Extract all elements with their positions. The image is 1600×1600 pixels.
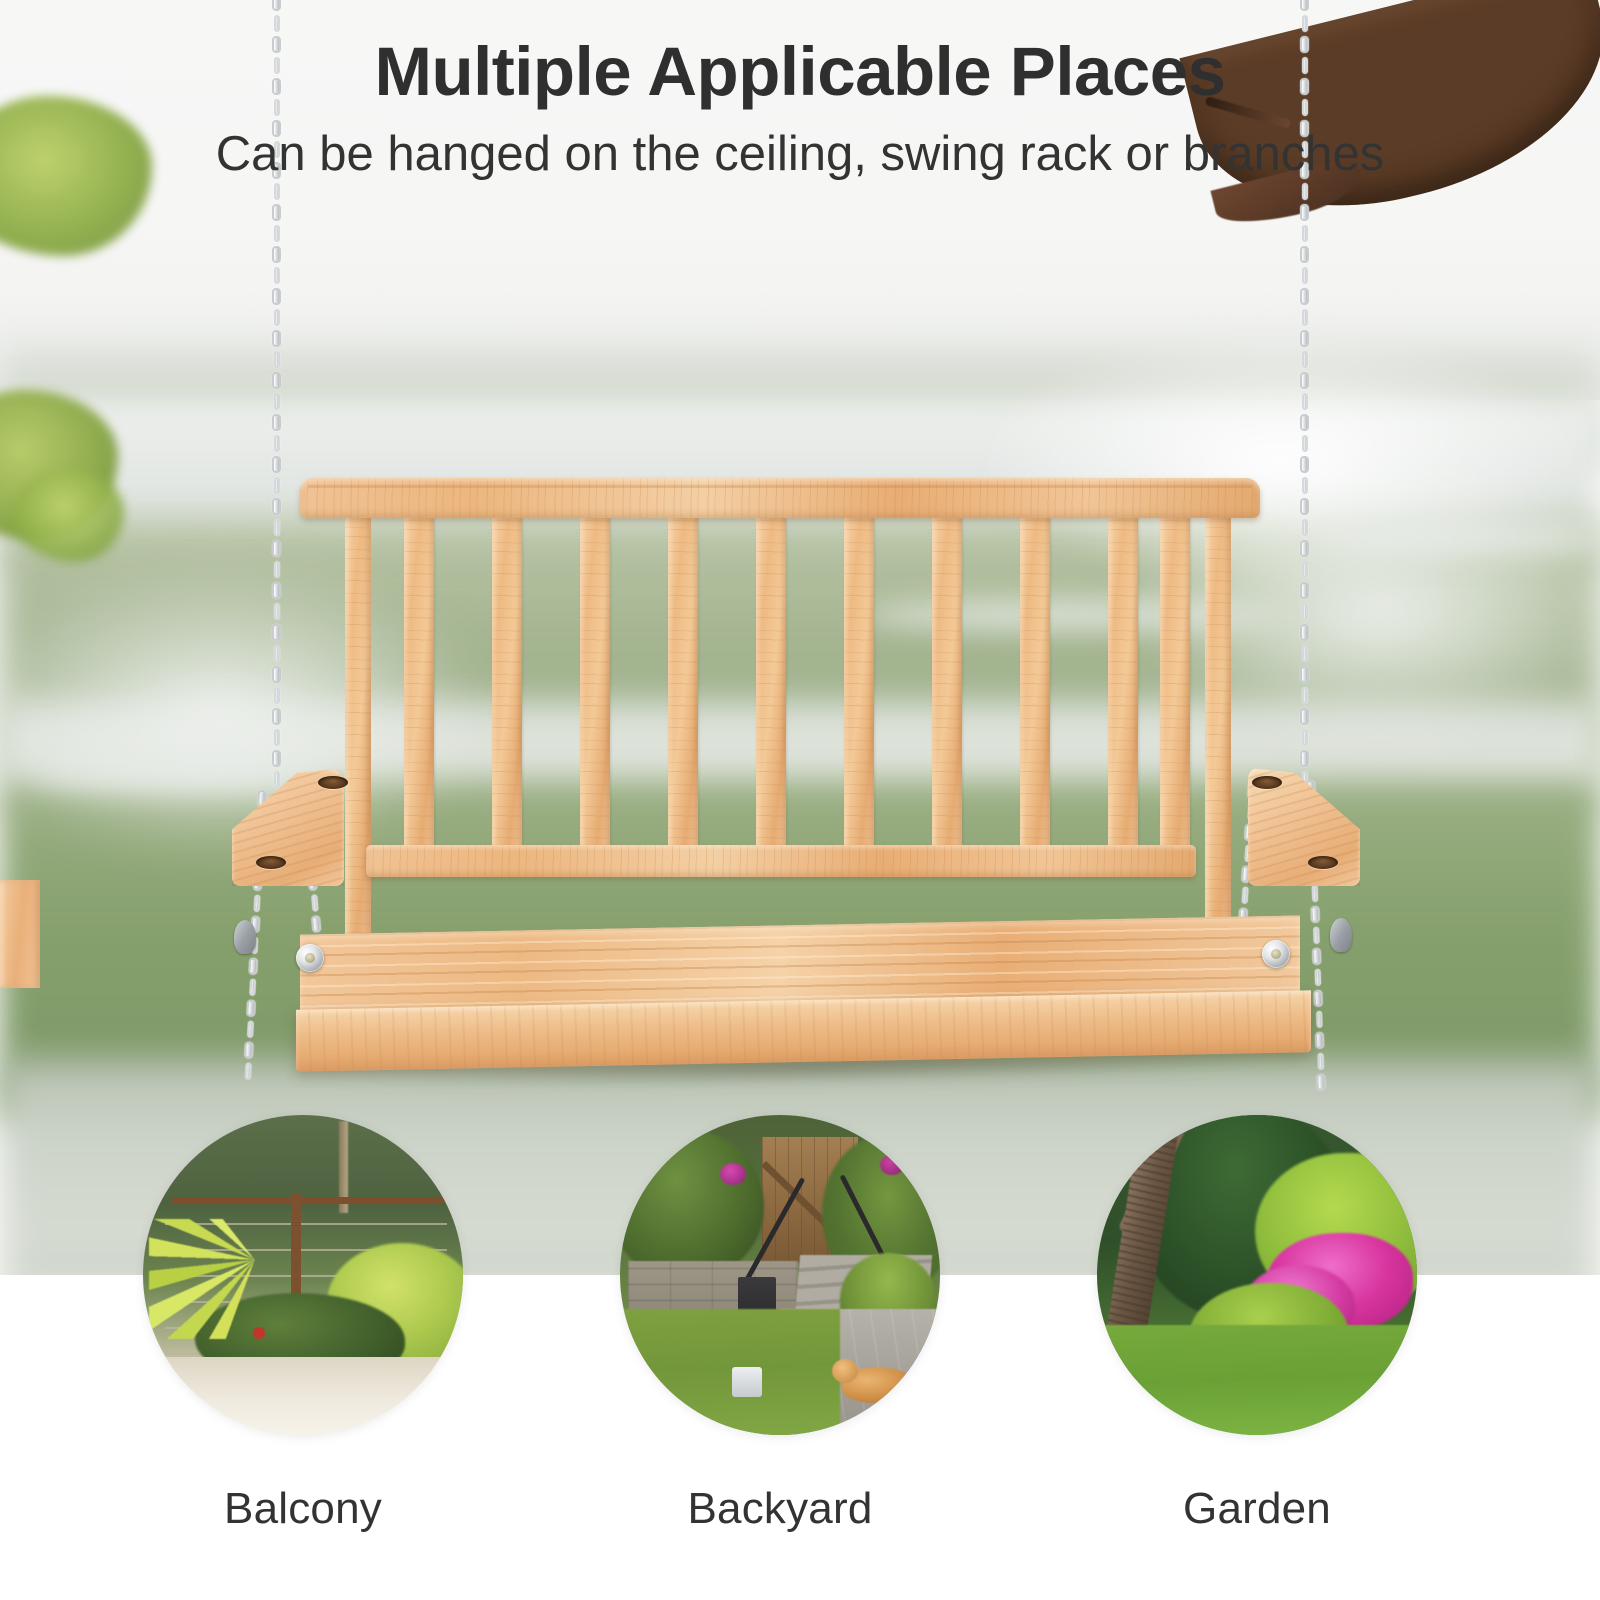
garden-photo-content bbox=[1097, 1115, 1417, 1435]
backyard-ivy-left bbox=[620, 1129, 764, 1279]
chain-hinge-right bbox=[1330, 918, 1352, 952]
porch-swing bbox=[0, 0, 1600, 1290]
page-title: Multiple Applicable Places bbox=[0, 36, 1600, 108]
balcony-berry bbox=[253, 1327, 265, 1339]
backrest-slat bbox=[492, 512, 522, 860]
backrest-slat bbox=[1020, 512, 1050, 860]
armrest-right-chain-hole-rear bbox=[1252, 776, 1282, 789]
armrest-left-chain-hole-rear bbox=[318, 776, 348, 789]
backrest-slat bbox=[580, 512, 610, 860]
backyard-dog bbox=[842, 1367, 916, 1403]
backrest-slat bbox=[756, 512, 786, 860]
backyard-photo[interactable] bbox=[620, 1115, 940, 1435]
armrest-left-chain-hole-front bbox=[256, 856, 286, 869]
frame-post-right bbox=[1205, 500, 1231, 955]
backrest-top-rail bbox=[300, 478, 1260, 518]
backyard-magenta-flower bbox=[880, 1155, 904, 1175]
backrest-slat bbox=[932, 512, 962, 860]
armrest-right-chain-hole-front bbox=[1308, 856, 1338, 869]
backrest-slat bbox=[1108, 512, 1138, 860]
caption-garden: Garden bbox=[1047, 1484, 1467, 1534]
page-subtitle: Can be hanged on the ceiling, swing rack… bbox=[0, 126, 1600, 182]
backyard-lawn bbox=[620, 1309, 840, 1435]
seat-bolt-left bbox=[296, 944, 324, 972]
garden-photo[interactable] bbox=[1097, 1115, 1417, 1435]
balcony-photo[interactable] bbox=[143, 1115, 463, 1435]
backrest-lower-rail bbox=[366, 845, 1196, 877]
balcony-railing-top bbox=[171, 1197, 443, 1204]
backyard-photo-content bbox=[620, 1115, 940, 1435]
caption-backyard: Backyard bbox=[570, 1484, 990, 1534]
product-marketing-image: Balcony Backyard Garden Multiple Applica… bbox=[0, 0, 1600, 1600]
backrest-slat bbox=[1160, 512, 1190, 860]
chain-hinge-left bbox=[234, 920, 256, 954]
garden-lawn bbox=[1097, 1325, 1417, 1435]
frame-post-left bbox=[345, 500, 371, 955]
backyard-magenta-flower bbox=[720, 1163, 746, 1185]
backyard-watering-can bbox=[732, 1367, 762, 1397]
backrest-slat bbox=[404, 512, 434, 860]
caption-balcony: Balcony bbox=[93, 1484, 513, 1534]
balcony-deck-floor bbox=[143, 1357, 463, 1435]
balcony-palm-frond bbox=[149, 1219, 269, 1339]
backrest-slat bbox=[668, 512, 698, 860]
backrest-slat bbox=[844, 512, 874, 860]
seat-bolt-right bbox=[1262, 940, 1290, 968]
balcony-photo-content bbox=[143, 1115, 463, 1435]
armrest-right-support bbox=[0, 880, 40, 988]
